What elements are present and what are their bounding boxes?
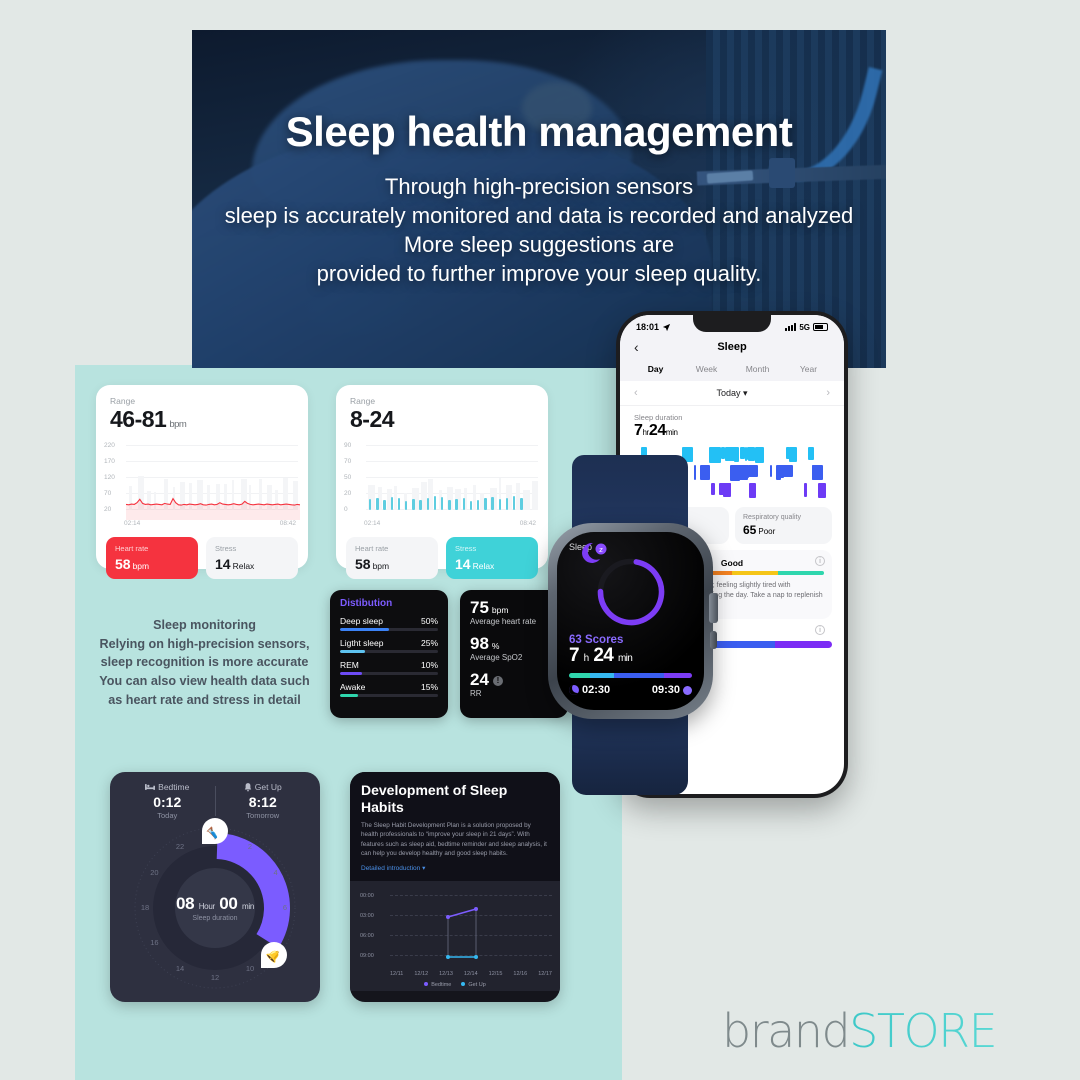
bedtime-sub: Today [120, 811, 215, 820]
getup-sub: Tomorrow [216, 811, 311, 820]
distribution-card: Distibution Deep sleep50%Ligtht sleep25%… [330, 590, 448, 718]
smartwatch-mockup: Sleep z 63 Scores 7 h 24 min 02:30 09: [528, 455, 733, 795]
habits-ytick-2: 06:00 [360, 933, 374, 939]
distribution-value: 25% [421, 638, 438, 648]
distribution-label: Deep sleep [340, 616, 383, 626]
detailed-introduction-link[interactable]: Detailed introduction ▾ [361, 864, 549, 872]
tab-month[interactable]: Month [732, 364, 783, 374]
distribution-label: Awake [340, 682, 365, 692]
phone-period-tabs: DayWeekMonthYear [620, 361, 844, 381]
dial-tick: 4 [270, 868, 282, 877]
heart-rate-chart: 220 170 120 70 20 [104, 442, 300, 520]
heart-rate-range-number: 46-81 [110, 406, 166, 432]
habits-title: Development of Sleep Habits [361, 782, 549, 815]
distribution-bar [340, 694, 438, 697]
phone-date-selector[interactable]: ‹ Today ▾ › [620, 381, 844, 406]
bedtime-dial-card: Bedtime 0:12 Today Get Up 8:12 Tomorrow … [110, 772, 320, 1002]
dial-tick: 18 [139, 903, 151, 912]
dial-hours-unit: Hour [199, 902, 215, 911]
habits-xtick: 12/15 [489, 971, 503, 977]
stress-chart: 90 70 50 20 0 [344, 442, 540, 520]
distribution-title: Distibution [340, 598, 438, 609]
hr-line [126, 442, 300, 520]
st-chip-heart-rate[interactable]: Heart rate 58bpm [346, 537, 438, 579]
distribution-bar [340, 628, 438, 631]
st-chip-hr-value: 58 [355, 556, 371, 572]
svg-text:z: z [599, 546, 603, 554]
sleep-monitoring-copy: Sleep monitoring Relying on high-precisi… [92, 616, 317, 709]
sleep-duration-minutes-unit: min [666, 428, 678, 437]
watch-sleep-times: 02:30 09:30 [569, 684, 692, 696]
habits-body: The Sleep Habit Development Plan is a so… [361, 821, 549, 859]
hero-subtitle-2: sleep is accurately monitored and data i… [225, 201, 854, 230]
hr-ytick-4: 20 [104, 506, 111, 513]
distribution-label: Ligtht sleep [340, 638, 383, 648]
phone-card-resp-label: Respiratory quality [743, 514, 824, 521]
location-arrow-icon [662, 323, 671, 332]
habits-lines [390, 889, 538, 969]
status-network: 5G [799, 323, 810, 332]
info-icon[interactable]: i [815, 556, 825, 566]
bedtime-handle[interactable]: 🛌 [202, 818, 228, 844]
watch-minutes: 24 [593, 645, 613, 666]
st-chip-hr-unit: bpm [373, 561, 390, 571]
phone-card-resp-unit: Poor [758, 527, 775, 536]
hr-ytick-1: 170 [104, 458, 115, 465]
logo-part-a: brand [722, 1004, 849, 1058]
watch-wake-time: 09:30 [652, 684, 680, 696]
status-time: 18:01 [636, 322, 659, 332]
hero-subtitle-3: More sleep suggestions are [404, 230, 674, 259]
heart-rate-card: Range 46-81bpm 220 170 120 70 20 02:14 0… [96, 385, 308, 569]
hr-time-axis: 02:14 08:42 [106, 520, 298, 531]
dial-tick: 10 [244, 964, 256, 973]
habits-xtick: 12/14 [464, 971, 478, 977]
hr-chip-stress[interactable]: Stress 14Relax [206, 537, 298, 579]
prev-day-icon[interactable]: ‹ [634, 387, 638, 399]
st-ytick-1: 70 [344, 458, 351, 465]
side-copy-title: Sleep monitoring [92, 616, 317, 635]
stress-range-value: 8-24 [350, 406, 394, 432]
distribution-bar [340, 650, 438, 653]
bedtime-value: 0:12 [120, 794, 215, 810]
hr-chip-hr-label: Heart rate [115, 544, 189, 553]
hero-subtitle-4: provided to further improve your sleep q… [317, 259, 762, 288]
habits-xtick: 12/11 [390, 971, 403, 977]
phone-sleep-duration: Sleep duration 7hr24min [620, 406, 844, 443]
hr-chip-heart-rate[interactable]: Heart rate 58bpm [106, 537, 198, 579]
dial-tick: 22 [174, 842, 186, 851]
watch-side-button[interactable] [710, 631, 717, 649]
hr-chip-stress-label: Stress [215, 544, 289, 553]
watch-face: Sleep z 63 Scores 7 h 24 min 02:30 09: [557, 532, 704, 710]
getup-value: 8:12 [216, 794, 311, 810]
hr-chip-stress-value: 14 [215, 556, 231, 572]
habits-legend-item: Bedtime [424, 982, 451, 988]
sleep-dial[interactable]: 08 Hour 00 min Sleep duration 🛌 🔔 246101… [131, 824, 299, 992]
hero-title: Sleep health management [286, 108, 793, 156]
sleep-duration-hours: 7 [634, 422, 643, 439]
st-chip-stress[interactable]: Stress 14Relax [446, 537, 538, 579]
metric-spo2-unit: % [492, 641, 500, 651]
st-ytick-4: 0 [344, 506, 348, 513]
hr-ytick-2: 120 [104, 474, 115, 481]
habits-xtick: 12/13 [439, 971, 453, 977]
dial-tick: 6 [279, 903, 291, 912]
hr-ytick-3: 70 [104, 490, 111, 497]
phone-date-label[interactable]: Today ▾ [716, 388, 747, 399]
st-ytick-3: 20 [344, 490, 351, 497]
hr-chip-hr-value: 58 [115, 556, 131, 572]
distribution-value: 15% [421, 682, 438, 692]
sun-icon [683, 686, 692, 695]
distribution-label: REM [340, 660, 359, 670]
side-copy-line-2: sleep recognition is more accurate [92, 653, 317, 672]
st-chip-stress-label: Stress [455, 544, 529, 553]
st-time-start: 02:14 [364, 520, 380, 527]
watch-sleep-ring: z [594, 555, 668, 629]
phone-card-resp-value: 65 [743, 523, 756, 537]
habits-ytick-3: 09:00 [360, 953, 374, 959]
hr-chip-hr-unit: bpm [133, 561, 150, 571]
bed-icon [145, 783, 155, 791]
info-icon[interactable]: ! [493, 676, 503, 686]
bedtime-block: Bedtime 0:12 Today [120, 782, 215, 820]
st-chip-hr-label: Heart rate [355, 544, 429, 553]
distribution-row: Ligtht sleep25% [340, 638, 438, 648]
stress-card: Range 8-24 90 70 50 20 0 02:14 08:42 Hea… [336, 385, 548, 569]
tab-year[interactable]: Year [783, 364, 834, 374]
heart-rate-range-label: Range [110, 396, 308, 406]
phone-card-respiratory[interactable]: Respiratory quality 65Poor [735, 507, 832, 544]
habits-xtick: 12/16 [513, 971, 527, 977]
sleep-duration-minutes: 24 [649, 422, 666, 439]
metric-spo2-value: 98 [470, 634, 489, 653]
habits-ytick-0: 00:00 [360, 893, 374, 899]
habits-legend-item: Get Up [461, 982, 485, 988]
hero-subtitle-1: Through high-precision sensors [385, 172, 693, 201]
metric-hr-value: 75 [470, 598, 489, 617]
dial-tick: 14 [174, 964, 186, 973]
dial-mins-unit: min [242, 902, 254, 911]
bedtime-label: Bedtime [158, 782, 189, 792]
hr-chip-stress-unit: Relax [233, 561, 255, 571]
dial-hours: 08 [176, 894, 194, 913]
phone-notch [693, 315, 771, 332]
signal-icon [785, 323, 796, 331]
hr-ytick-0: 220 [104, 442, 115, 449]
dial-tick: 2 [244, 842, 256, 851]
side-copy-line-3: You can also view health data such [92, 672, 317, 691]
distribution-row: Deep sleep50% [340, 616, 438, 626]
habits-xtick: 12/12 [414, 971, 428, 977]
dial-tick: 16 [148, 938, 160, 947]
moon-z-icon: z [579, 540, 609, 570]
metric-rr-value: 24 [470, 670, 489, 689]
dial-center-label: Sleep duration [155, 915, 275, 922]
watch-minutes-unit: min [618, 653, 632, 664]
side-copy-line-1: Relying on high-precision sensors, [92, 635, 317, 654]
st-chip-stress-unit: Relax [473, 561, 495, 571]
dial-mins: 00 [219, 894, 237, 913]
distribution-row: Awake15% [340, 682, 438, 692]
tab-week[interactable]: Week [681, 364, 732, 374]
brandstore-logo: brandSTORE [722, 1004, 996, 1058]
watch-sleep-time: 02:30 [582, 684, 610, 696]
stress-time-axis: 02:14 08:42 [346, 520, 538, 531]
watch-hours: 7 [569, 645, 579, 666]
sleep-duration-label: Sleep duration [634, 413, 830, 422]
st-ytick-2: 50 [344, 474, 351, 481]
st-ytick-0: 90 [344, 442, 351, 449]
phone-nav-bar: ‹ Sleep [620, 335, 844, 361]
next-day-icon[interactable]: › [826, 387, 830, 399]
logo-part-b: STORE [849, 1004, 996, 1058]
side-copy-line-4: as heart rate and stress in detail [92, 691, 317, 710]
dial-tick: 20 [148, 868, 160, 877]
watch-crown[interactable] [709, 593, 718, 623]
metric-hr-unit: bpm [492, 605, 509, 615]
sleep-habits-card: Development of Sleep Habits The Sleep Ha… [350, 772, 560, 1002]
watch-stage-bar [569, 673, 692, 678]
distribution-value: 50% [421, 616, 438, 626]
moon-icon [569, 685, 579, 695]
habits-trend-chart: 00:00 03:00 06:00 09:00 12/1112/1212/131… [350, 881, 560, 991]
habits-ytick-1: 03:00 [360, 913, 374, 919]
hr-time-end: 08:42 [280, 520, 296, 527]
watch-hours-unit: h [584, 653, 589, 664]
tab-day[interactable]: Day [630, 364, 681, 374]
distribution-value: 10% [421, 660, 438, 670]
watch-case: Sleep z 63 Scores 7 h 24 min 02:30 09: [548, 523, 713, 719]
dial-tick: 12 [209, 973, 221, 982]
getup-label: Get Up [255, 782, 282, 792]
phone-page-title: Sleep [620, 341, 844, 353]
heart-rate-range-value: 46-81bpm [110, 406, 308, 433]
habits-xtick: 12/17 [538, 971, 552, 977]
stress-range-label: Range [350, 396, 548, 406]
getup-handle[interactable]: 🔔 [261, 942, 287, 968]
heart-rate-range-unit: bpm [169, 419, 186, 430]
hr-time-start: 02:14 [124, 520, 140, 527]
getup-block: Get Up 8:12 Tomorrow [216, 782, 311, 820]
distribution-row: REM10% [340, 660, 438, 670]
distribution-bar [340, 672, 438, 675]
battery-icon [813, 323, 828, 331]
st-chip-stress-value: 14 [455, 556, 471, 572]
bell-icon [244, 783, 252, 792]
